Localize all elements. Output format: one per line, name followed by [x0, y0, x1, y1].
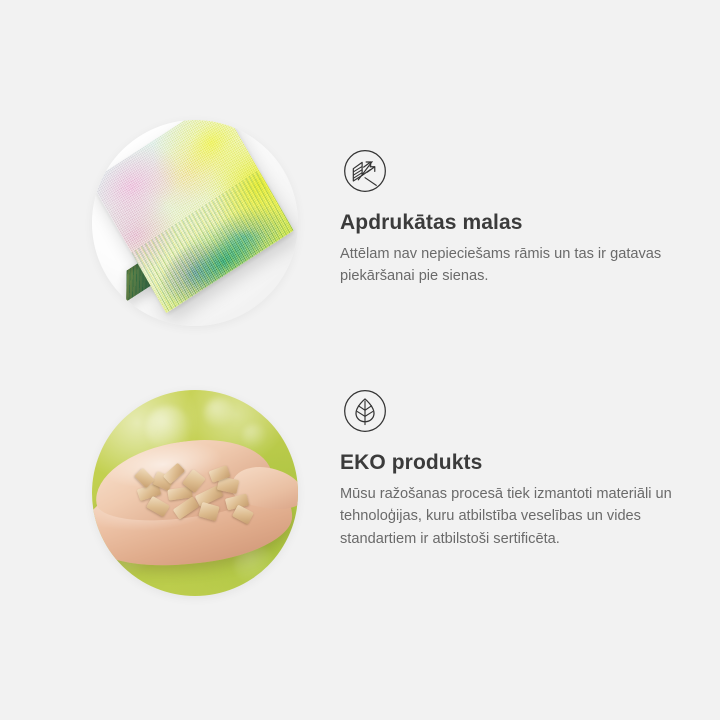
- wood-chip: [232, 505, 254, 525]
- hands-illustration: [92, 438, 298, 568]
- hands-with-wood-chips-photo: [92, 390, 298, 596]
- leaf-icon: [342, 388, 388, 434]
- wood-chip-pile: [134, 468, 254, 526]
- feature-description: Mūsu ražošanas procesā tiek izmantoti ma…: [340, 483, 685, 550]
- feature-text-printed-edges: Apdrukātas malas Attēlam nav nepieciešam…: [340, 148, 690, 288]
- feature-title: Apdrukātas malas: [340, 210, 690, 235]
- canvas-printed-face: [92, 120, 294, 313]
- feature-text-eco: EKO produkts Mūsu ražošanas procesā tiek…: [340, 388, 690, 550]
- canvas-corner-photo: [92, 120, 298, 326]
- wood-chip: [198, 502, 219, 521]
- feature-media-printed-edges: [92, 120, 298, 326]
- folded-canvas-edge-icon: [342, 148, 388, 194]
- photo-circle-mask: [92, 120, 298, 326]
- feature-media-eco: [92, 390, 298, 596]
- wood-chip: [173, 496, 200, 519]
- product-feature-panel: Apdrukātas malas Attēlam nav nepieciešam…: [0, 0, 720, 720]
- canvas-illustration: [108, 120, 298, 326]
- photo-circle-mask: [92, 390, 298, 596]
- wood-chip: [146, 496, 170, 517]
- bokeh-highlight: [204, 398, 234, 428]
- feature-title: EKO produkts: [340, 450, 690, 475]
- feature-description: Attēlam nav nepieciešams rāmis un tas ir…: [340, 243, 685, 287]
